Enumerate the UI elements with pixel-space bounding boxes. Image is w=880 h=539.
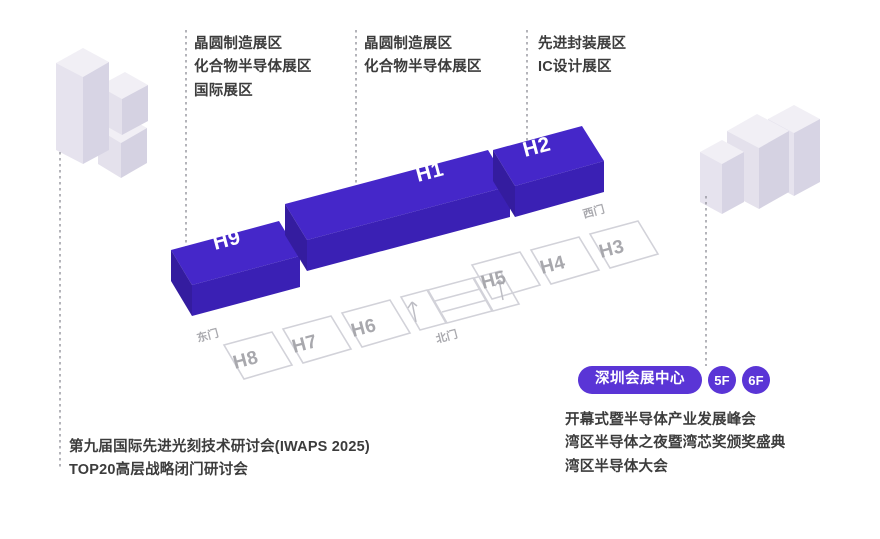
hall-H4-label: H4 xyxy=(538,252,568,279)
hall-block-H9[interactable]: H9 xyxy=(171,221,300,316)
annotation-left-line-2: TOP20高层战略闭门研讨会 xyxy=(69,459,370,482)
gate-north-label: 北门 xyxy=(434,327,459,346)
gate-west-label: 西门 xyxy=(581,202,606,221)
floor-badge-6f[interactable]: 6F xyxy=(742,366,770,394)
annotation-group-a: 晶圆制造展区 化合物半导体展区 国际展区 xyxy=(194,33,312,103)
floor-badge-5f[interactable]: 5F xyxy=(708,366,736,394)
annotation-right-line-1: 开幕式暨半导体产业发展峰会 xyxy=(565,409,786,432)
annotation-bottom-right: 开幕式暨半导体产业发展峰会 湾区半导体之夜暨湾芯奖颁奖盛典 湾区半导体大会 xyxy=(565,409,786,479)
annotation-b-line-1: 晶圆制造展区 xyxy=(364,33,482,56)
left-tower-cluster xyxy=(56,48,148,178)
annotation-left-line-1: 第九届国际先进光刻技术研讨会(IWAPS 2025) xyxy=(69,436,370,459)
right-tower-cluster xyxy=(700,105,820,214)
hall-block-H2[interactable]: H2 xyxy=(493,126,604,217)
annotation-a-line-3: 国际展区 xyxy=(194,80,312,103)
gate-east-label: 东门 xyxy=(195,326,220,345)
annotation-right-line-2: 湾区半导体之夜暨湾芯奖颁奖盛典 xyxy=(565,432,786,455)
annotation-b-line-2: 化合物半导体展区 xyxy=(364,56,482,79)
annotation-right-line-3: 湾区半导体大会 xyxy=(565,456,786,479)
hall-H8-label: H8 xyxy=(231,347,261,374)
annotation-c-line-2: IC设计展区 xyxy=(538,56,626,79)
hall-H5-label: H5 xyxy=(479,267,509,294)
annotation-bottom-left: 第九届国际先进光刻技术研讨会(IWAPS 2025) TOP20高层战略闭门研讨… xyxy=(69,436,370,483)
annotation-a-line-2: 化合物半导体展区 xyxy=(194,56,312,79)
annotation-c-line-1: 先进封装展区 xyxy=(538,33,626,56)
tower-tall xyxy=(56,48,109,164)
venue-name-badge[interactable]: 深圳会展中心 xyxy=(578,366,702,394)
venue-badge-row: 深圳会展中心 5F 6F xyxy=(578,366,770,394)
hall-H3-label: H3 xyxy=(597,236,627,263)
hall-H6-label: H6 xyxy=(349,315,379,342)
hall-block-H1[interactable]: H1 xyxy=(285,150,510,271)
annotation-group-b: 晶圆制造展区 化合物半导体展区 xyxy=(364,33,482,80)
hall-H7-label: H7 xyxy=(290,331,320,358)
annotation-a-line-1: 晶圆制造展区 xyxy=(194,33,312,56)
venue-map-infographic: H9 H1 H2 H8 H7 H6 H5 H4 H3 东门 北门 xyxy=(0,0,880,539)
annotation-group-c: 先进封装展区 IC设计展区 xyxy=(538,33,626,80)
